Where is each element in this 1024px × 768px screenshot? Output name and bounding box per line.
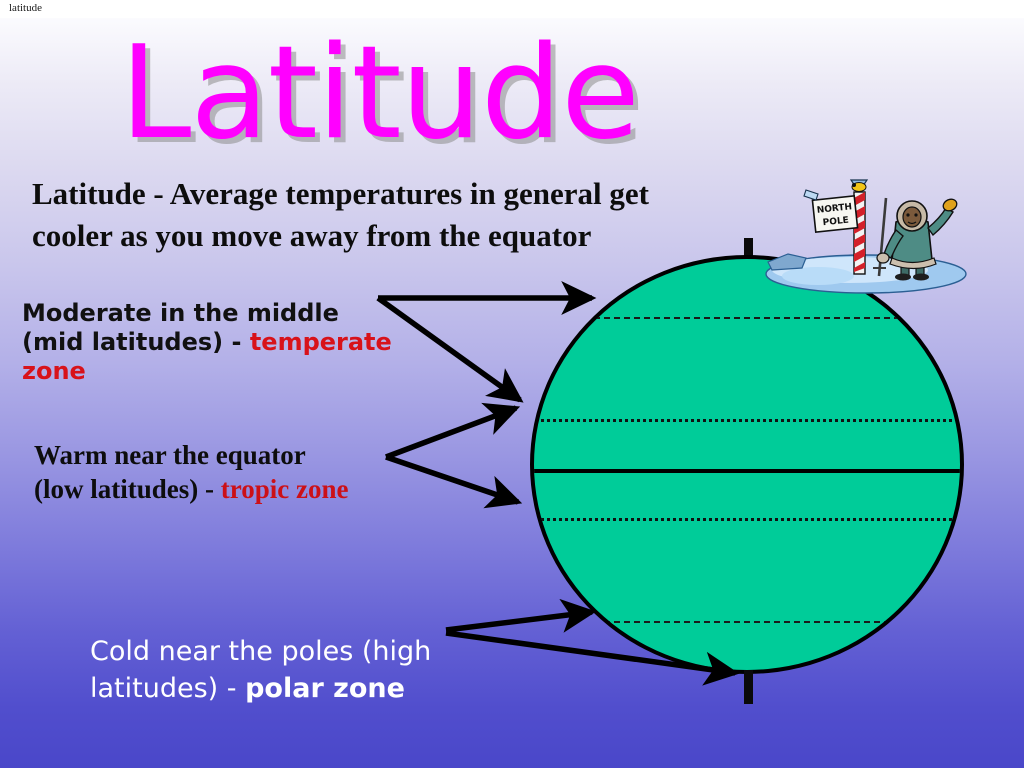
globe-diagram bbox=[530, 255, 964, 674]
annotation-temperate-line2-prefix: (mid latitudes) - bbox=[22, 328, 250, 356]
latitude-line-tropic-of-cancer bbox=[534, 419, 960, 422]
annotation-tropic-line2-prefix: (low latitudes) - bbox=[34, 474, 221, 504]
annotation-tropic-line1: Warm near the equator bbox=[34, 440, 306, 470]
annotation-polar-line2-prefix: latitudes) - bbox=[90, 673, 245, 704]
page-title: Latitude bbox=[120, 28, 639, 160]
latitude-line-equator bbox=[534, 469, 960, 473]
annotation-temperate-line1: Moderate in the middle bbox=[22, 299, 339, 327]
annotation-polar-highlight: polar zone bbox=[245, 673, 405, 704]
south-pole-axis-tick bbox=[744, 670, 753, 704]
latitude-line-antarctic-circle bbox=[534, 621, 960, 623]
annotation-polar-line1: Cold near the poles (high bbox=[90, 636, 431, 667]
annotation-tropic: Warm near the equator (low latitudes) - … bbox=[34, 438, 434, 506]
latitude-line-arctic-circle bbox=[534, 317, 960, 319]
header-strip: latitude bbox=[0, 0, 1024, 18]
annotation-tropic-highlight: tropic zone bbox=[221, 474, 349, 504]
annotation-polar: Cold near the poles (high latitudes) - p… bbox=[90, 633, 490, 707]
page-header-label: latitude bbox=[9, 1, 42, 15]
north-pole-clipart: NORTH POLE bbox=[758, 178, 970, 294]
slide-canvas: Latitude Latitude - Average temperatures… bbox=[0, 18, 1024, 768]
slide-root: latitude Latitude Latitude - Average tem… bbox=[0, 0, 1024, 768]
latitude-line-tropic-of-capricorn bbox=[534, 518, 960, 521]
lead-paragraph: Latitude - Average temperatures in gener… bbox=[32, 173, 732, 257]
annotation-temperate-highlight2: zone bbox=[22, 357, 86, 385]
annotation-temperate: Moderate in the middle (mid latitudes) -… bbox=[22, 299, 402, 386]
annotation-temperate-highlight: temperate bbox=[250, 328, 392, 356]
